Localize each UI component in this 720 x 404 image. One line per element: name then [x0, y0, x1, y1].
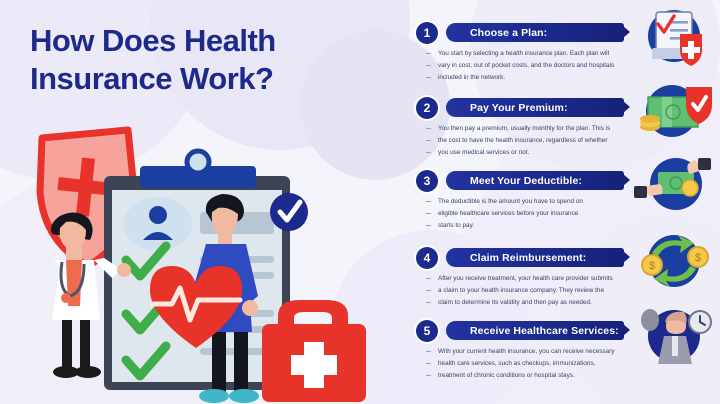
step-description: You start by selecting a health insuranc… [426, 48, 622, 84]
description-line: The deductible is the amount you have to… [426, 196, 622, 208]
description-line: treatment of chronic conditions or hospi… [426, 370, 622, 382]
page-title: How Does Health Insurance Work? [30, 22, 390, 98]
step-description: After you receive treatment, your health… [426, 273, 622, 309]
doctor-with-clock-icon [628, 306, 720, 368]
health-insurance-illustration [0, 120, 400, 404]
description-line: With your current health insurance, you … [426, 346, 622, 358]
description-line: After you receive treatment, your health… [426, 273, 622, 285]
description-line: You then pay a premium, usually monthly … [426, 123, 622, 135]
description-line: vary in cost, out of pocket costs, and t… [426, 60, 622, 72]
step-heading-bar: Claim Reimbursement: [446, 248, 624, 267]
page-title-line-2: Insurance Work? [30, 60, 390, 98]
svg-text:$: $ [649, 260, 655, 272]
step-number-badge: 3 [416, 170, 438, 192]
step-heading-label: Meet Your Deductible: [446, 175, 582, 187]
blue-check-circle-icon [270, 193, 308, 231]
document-shield-icon [628, 8, 720, 70]
description-line: a claim to your health insurance company… [426, 285, 622, 297]
step-heading-label: Receive Healthcare Services: [446, 325, 619, 337]
description-line: you use medical services or not. [426, 147, 622, 159]
step-heading-bar: Pay Your Premium: [446, 98, 624, 117]
step-heading-bar: Receive Healthcare Services: [446, 321, 624, 340]
description-line: claim to determine its validity and then… [426, 297, 622, 309]
step-heading-label: Choose a Plan: [446, 27, 547, 39]
step-number-badge: 4 [416, 247, 438, 269]
step-description: With your current health insurance, you … [426, 346, 622, 382]
step-description: You then pay a premium, usually monthly … [426, 123, 622, 159]
description-line: starts to pay. [426, 220, 622, 232]
step-number-badge: 2 [416, 97, 438, 119]
step-heading-bar: Meet Your Deductible: [446, 171, 624, 190]
page-title-line-1: How Does Health [30, 23, 276, 58]
infographic-canvas: How Does Health Insurance Work? [0, 0, 720, 404]
description-line: You start by selecting a health insuranc… [426, 48, 622, 60]
step-description: The deductible is the amount you have to… [426, 196, 622, 232]
description-line: the cost to have the health insurance, r… [426, 135, 622, 147]
description-line: included in the network. [426, 72, 622, 84]
step-heading-label: Claim Reimbursement: [446, 252, 586, 264]
description-line: health care services, such as checkups, … [426, 358, 622, 370]
svg-text:$: $ [695, 252, 701, 264]
hands-exchanging-money-icon [628, 156, 720, 218]
steps-list: 1 Choose a Plan: You start by selecting … [404, 0, 720, 404]
step-number-badge: 1 [416, 22, 438, 44]
step-heading-bar: Choose a Plan: [446, 23, 624, 42]
cash-coins-shield-check-icon [628, 83, 720, 145]
description-line: eligible healthcare services before your… [426, 208, 622, 220]
step-number-badge: 5 [416, 320, 438, 342]
step-heading-label: Pay Your Premium: [446, 102, 568, 114]
circular-arrows-coins-icon: $ $ [628, 233, 720, 295]
